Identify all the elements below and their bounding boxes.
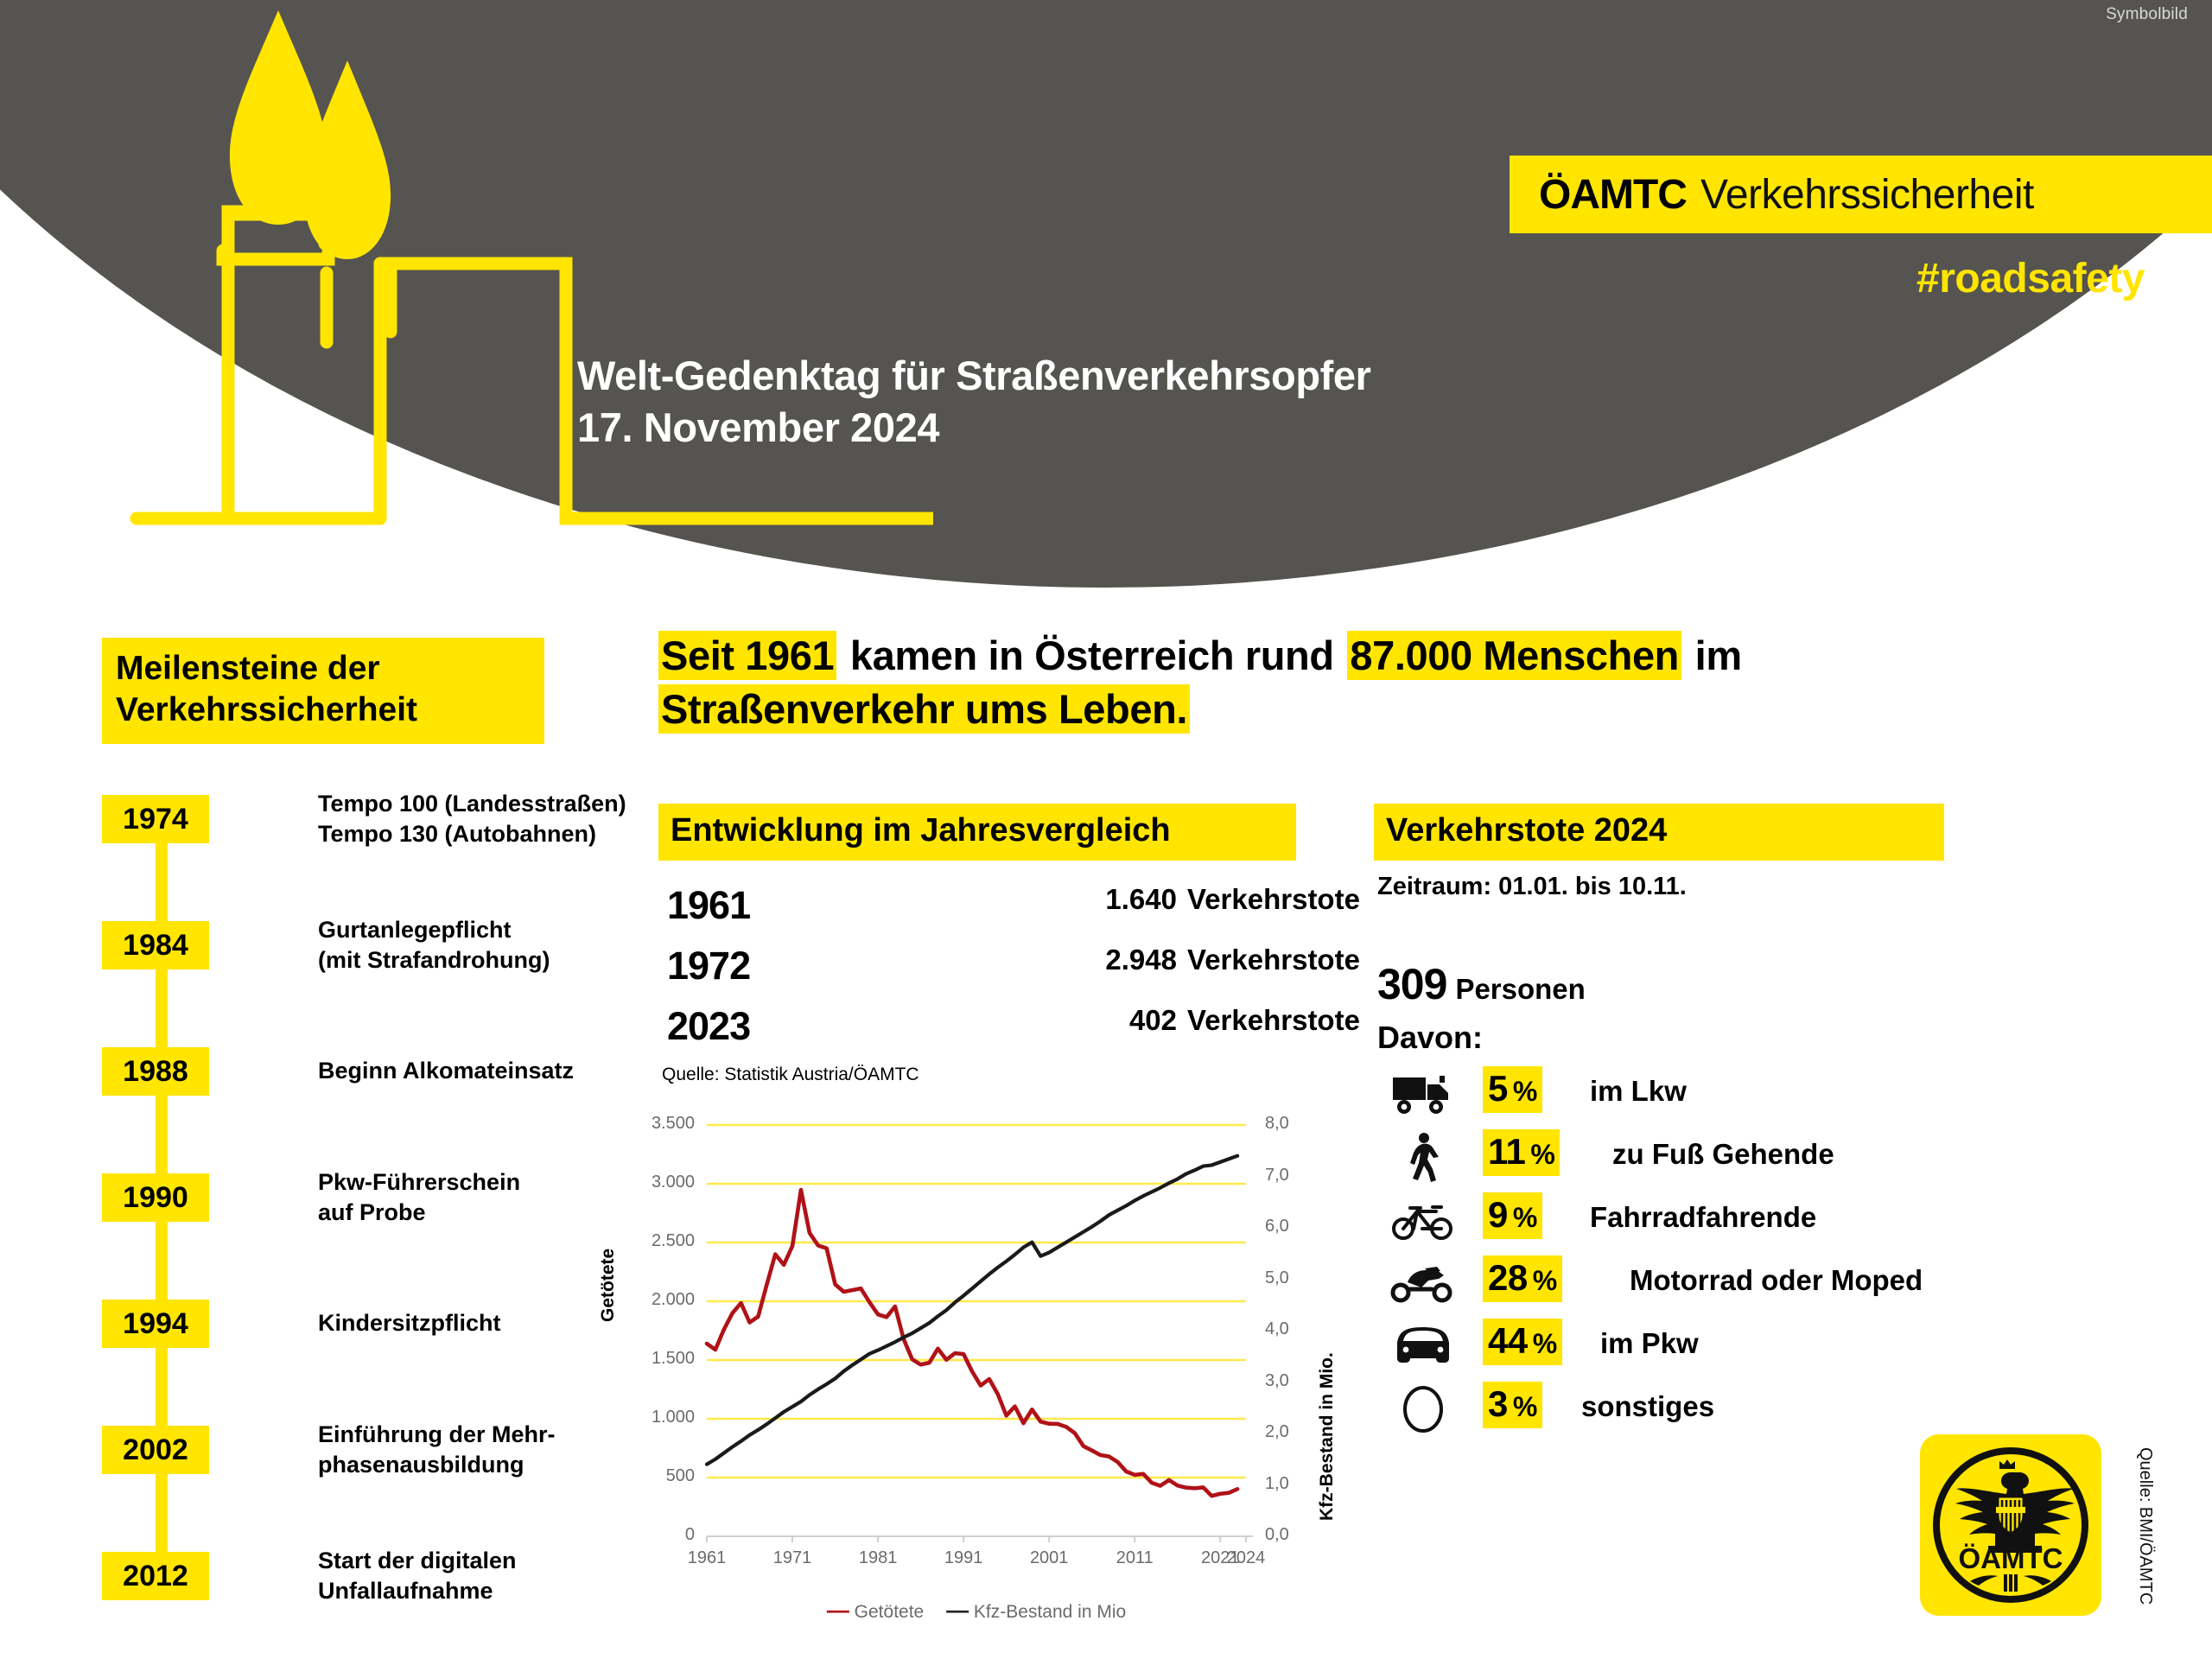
breakdown-percent: 5%	[1483, 1066, 1542, 1113]
timeline-year-badge: 1994	[102, 1300, 209, 1348]
fatalities-title: Verkehrstote 2024	[1374, 804, 1944, 861]
car-icon	[1389, 1320, 1457, 1372]
yearcompare-value: 1.640	[857, 883, 1177, 916]
timeline-year-badge: 2002	[102, 1426, 209, 1474]
breakdown-item-lkw: 5% im Lkw	[1377, 1065, 2094, 1128]
timeline-year-badge: 1988	[102, 1047, 209, 1096]
yearcompare-value: 2.948	[857, 944, 1177, 976]
breakdown-percent: 44%	[1483, 1319, 1562, 1365]
legend-item-getoetete: — Getötete	[818, 1602, 932, 1622]
yearcompare-unit: Verkehrstote	[1187, 1004, 1360, 1037]
motorcycle-icon	[1389, 1257, 1457, 1309]
chart-y-axis-label-left: Getötete	[598, 1249, 619, 1322]
yearcompare-row-1961: 1961 1.640 Verkehrstote	[658, 883, 1263, 935]
chart-ytick-right: 1,0	[1265, 1474, 1289, 1494]
fatalities-range: Zeitraum: 01.01. bis 10.11.	[1377, 873, 1687, 901]
timeline-label: Kindersitzpflicht	[318, 1308, 501, 1338]
yearcompare-row-1972: 1972 2.948 Verkehrstote	[658, 944, 1263, 995]
yearcompare-year: 2023	[667, 1004, 750, 1049]
chart-legend: — Getötete — Kfz-Bestand in Mio	[605, 1597, 1348, 1624]
timeline-label: Tempo 100 (Landesstraßen) Tempo 130 (Aut…	[318, 789, 626, 849]
source-credit: Quelle: BMI/ÖAMTC	[2135, 1447, 2155, 1605]
chart-canvas	[605, 1106, 1348, 1590]
chart-ytick-right: 8,0	[1265, 1114, 1289, 1134]
yearcompare-title: Entwicklung im Jahresvergleich	[658, 804, 1296, 861]
chart-series-getoetete	[707, 1190, 1237, 1496]
breakdown-item-bicycle: 9% Fahrradfahrende	[1377, 1191, 2094, 1254]
main-headline: Seit 1961 kamen in Österreich rund 87.00…	[658, 629, 1911, 736]
yearcompare-unit: Verkehrstote	[1187, 944, 1360, 976]
headline-mid-1: kamen in Österreich rund	[836, 631, 1347, 680]
pedestrian-icon	[1389, 1131, 1457, 1183]
breakdown-percent: 11%	[1483, 1129, 1560, 1176]
breakdown-item-motorcycle: 28% Motorrad oder Moped	[1377, 1254, 2094, 1317]
chart-ytick-right: 5,0	[1265, 1268, 1289, 1288]
breakdown-label: sonstiges	[1581, 1390, 1714, 1423]
timeline-label: Start der digitalen Unfallaufnahme	[318, 1546, 517, 1606]
timeline-label: Beginn Alkomateinsatz	[318, 1056, 574, 1086]
milestones-timeline: 1974 Tempo 100 (Landesstraßen) Tempo 130…	[102, 795, 629, 1616]
yearcompare-row-2023: 2023 402 Verkehrstote	[658, 1004, 1263, 1056]
breakdown-percent: 28%	[1483, 1255, 1562, 1302]
breakdown-label: Fahrradfahrende	[1590, 1201, 1816, 1234]
chart-ytick-left: 3.500	[605, 1114, 695, 1134]
circle-icon	[1389, 1383, 1457, 1435]
milestones-title: Meilensteine der Verkehrssicherheit	[102, 638, 544, 744]
truck-icon	[1389, 1068, 1457, 1120]
yearcompare-value: 402	[857, 1004, 1177, 1037]
chart-ytick-left: 1.500	[605, 1349, 695, 1369]
chart-xtick: 1961	[668, 1548, 746, 1568]
yearcompare-source: Quelle: Statistik Austria/ÖAMTC	[662, 1065, 919, 1085]
timeline-year-badge: 1974	[102, 795, 209, 843]
timeline-label: Pkw-Führerschein auf Probe	[318, 1167, 520, 1228]
chart-y-axis-label-right: Kfz-Bestand in Mio.	[1317, 1352, 1338, 1521]
timeline-year-badge: 1984	[102, 921, 209, 969]
yearcompare-year: 1972	[667, 944, 750, 988]
yearcompare-year: 1961	[667, 883, 750, 928]
chart-ytick-left: 1.000	[605, 1408, 695, 1427]
legend-item-kfz: — Kfz-Bestand in Mio	[938, 1602, 1135, 1622]
chart-xtick: 1991	[925, 1548, 1002, 1568]
timeline-year-badge: 2012	[102, 1552, 209, 1600]
chart-ytick-right: 6,0	[1265, 1217, 1289, 1236]
breakdown-label: im Pkw	[1600, 1327, 1699, 1360]
chart-xtick: 2011	[1096, 1548, 1173, 1568]
chart-ytick-right: 2,0	[1265, 1422, 1289, 1442]
logo-wordmark: ÖAMTC	[1959, 1542, 2063, 1574]
timeline-label: Einführung der Mehr- phasenausbildung	[318, 1420, 555, 1480]
bicycle-icon	[1389, 1194, 1457, 1246]
chart-ytick-left: 500	[605, 1466, 695, 1486]
fatalities-count-row: 309Personen	[1377, 959, 1586, 1009]
breakdown-item-pedestrian: 11% zu Fuß Gehende	[1377, 1128, 2094, 1191]
chart-ytick-right: 3,0	[1265, 1371, 1289, 1391]
headline-seit-1961: Seit 1961	[658, 631, 836, 680]
timeline-year-badge: 1990	[102, 1173, 209, 1222]
chart-ytick-left: 0	[605, 1525, 695, 1545]
timeline-label: Gurtanlegepflicht (mit Strafandrohung)	[318, 915, 550, 976]
chart-ytick-left: 3.000	[605, 1173, 695, 1192]
breakdown-percent: 3%	[1483, 1382, 1542, 1428]
headline-87000: 87.000 Menschen	[1347, 631, 1681, 680]
chart-ytick-right: 0,0	[1265, 1525, 1289, 1545]
headline-strassenverkehr: Straßenverkehr ums Leben.	[658, 684, 1190, 734]
chart-xtick: 2024	[1207, 1548, 1285, 1568]
yearcompare-unit: Verkehrstote	[1187, 883, 1360, 916]
breakdown-percent: 9%	[1483, 1192, 1542, 1239]
fatalities-count-label: Personen	[1446, 973, 1585, 1005]
fatalities-count: 309	[1377, 960, 1446, 1008]
chart-xtick: 1981	[839, 1548, 917, 1568]
chart-ytick-right: 7,0	[1265, 1166, 1289, 1185]
chart-ytick-right: 4,0	[1265, 1319, 1289, 1339]
chart-ytick-left: 2.000	[605, 1290, 695, 1310]
fatalities-breakdown-list: 5% im Lkw 11% zu Fuß Gehende	[1377, 1065, 2094, 1443]
headline-mid-2: im	[1681, 631, 1745, 680]
oamtc-logo: ÖAMTC	[1920, 1434, 2101, 1616]
chart-xtick: 2001	[1010, 1548, 1088, 1568]
fatalities-davon-label: Davon:	[1377, 1020, 1483, 1056]
breakdown-item-car: 44% im Pkw	[1377, 1317, 2094, 1380]
breakdown-label: zu Fuß Gehende	[1612, 1138, 1834, 1171]
chart-ytick-left: 2.500	[605, 1231, 695, 1251]
breakdown-label: im Lkw	[1590, 1075, 1687, 1108]
line-chart: Getötete Kfz-Bestand in Mio. — Getötete …	[605, 1106, 1348, 1642]
breakdown-label: Motorrad oder Moped	[1630, 1264, 1923, 1297]
chart-xtick: 1971	[753, 1548, 831, 1568]
